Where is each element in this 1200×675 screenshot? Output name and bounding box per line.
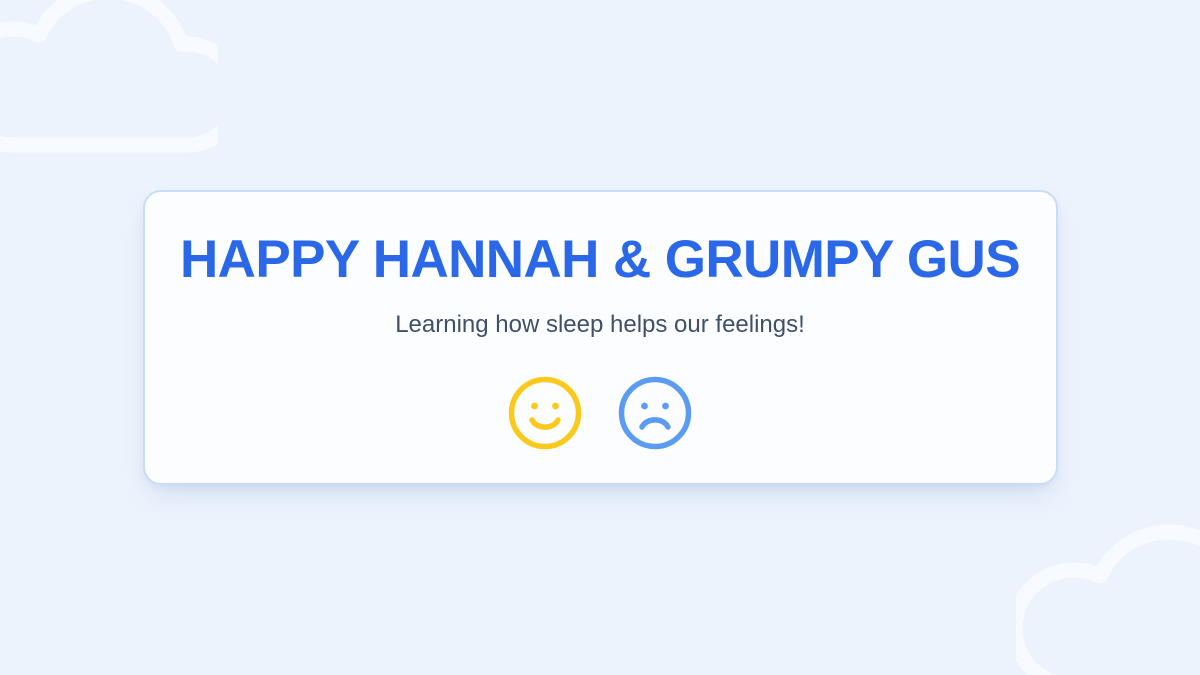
happy-face-icon	[507, 375, 583, 451]
page-subtitle: Learning how sleep helps our feelings!	[395, 311, 805, 339]
title-card: HAPPY HANNAH & GRUMPY GUS Learning how s…	[143, 190, 1058, 485]
sad-face-icon	[617, 375, 693, 451]
emotion-faces-row	[507, 375, 693, 451]
page-title: HAPPY HANNAH & GRUMPY GUS	[180, 232, 1020, 288]
